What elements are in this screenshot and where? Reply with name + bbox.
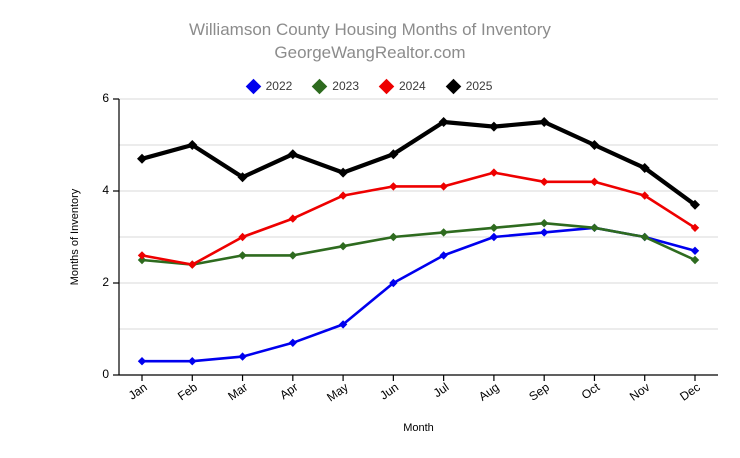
data-point-2023-Apr <box>289 251 297 259</box>
data-point-2023-Mar <box>238 251 246 259</box>
data-point-2022-Sep <box>540 228 548 236</box>
data-point-2024-Jun <box>389 182 397 190</box>
series-2024 <box>138 168 699 268</box>
data-point-2022-Mar <box>238 352 246 360</box>
data-point-2023-Nov <box>641 233 649 241</box>
data-point-2023-May <box>339 242 347 250</box>
x-tick-label-Dec: Dec <box>677 380 703 404</box>
y-axis-title: Months of Inventory <box>69 188 81 285</box>
data-point-2025-Jan <box>137 154 147 164</box>
data-point-2023-Oct <box>590 224 598 232</box>
y-tick-label: 0 <box>102 367 109 381</box>
x-tick-label-Nov: Nov <box>627 380 653 404</box>
data-point-2025-Aug <box>489 122 499 132</box>
y-tick-label: 2 <box>102 275 109 289</box>
data-point-2024-Aug <box>490 168 498 176</box>
data-point-2023-Jul <box>439 228 447 236</box>
y-tick-label: 6 <box>102 91 109 105</box>
x-tick-label-Jul: Jul <box>431 380 452 400</box>
chart-container: Williamson County Housing Months of Inve… <box>0 0 740 458</box>
x-tick-label-Sep: Sep <box>526 380 552 404</box>
data-point-2024-Sep <box>540 178 548 186</box>
data-point-2022-Feb <box>188 357 196 365</box>
x-tick-label-Jun: Jun <box>377 380 401 403</box>
series-line-2025 <box>142 122 695 205</box>
series-line-2023 <box>142 223 695 264</box>
x-tick-label-Apr: Apr <box>277 380 300 402</box>
series-2023 <box>138 219 699 269</box>
chart-plot-area: 0246JanFebMarAprMayJunJulAugSepOctNovDec… <box>0 0 740 458</box>
x-tick-label-Feb: Feb <box>175 380 200 404</box>
data-point-2023-Dec <box>691 256 699 264</box>
data-point-2022-Apr <box>289 339 297 347</box>
data-point-2022-Dec <box>691 247 699 255</box>
data-point-2024-Jan <box>138 251 146 259</box>
x-axis-title: Month <box>403 422 434 434</box>
x-tick-label-Aug: Aug <box>476 380 502 404</box>
series-2022 <box>138 224 699 366</box>
x-tick-label-Jan: Jan <box>126 380 150 403</box>
x-tick-label-May: May <box>324 380 351 404</box>
data-point-2024-Apr <box>289 214 297 222</box>
data-point-2024-May <box>339 191 347 199</box>
data-point-2023-Aug <box>490 224 498 232</box>
data-point-2022-Jan <box>138 357 146 365</box>
series-2025 <box>137 117 700 210</box>
data-point-2024-Jul <box>439 182 447 190</box>
x-tick-label-Mar: Mar <box>225 380 250 403</box>
data-point-2022-Aug <box>490 233 498 241</box>
y-tick-label: 4 <box>102 183 109 197</box>
series-line-2024 <box>142 173 695 265</box>
data-point-2023-Sep <box>540 219 548 227</box>
data-point-2023-Jun <box>389 233 397 241</box>
x-tick-label-Oct: Oct <box>579 380 603 403</box>
data-point-2024-Oct <box>590 178 598 186</box>
